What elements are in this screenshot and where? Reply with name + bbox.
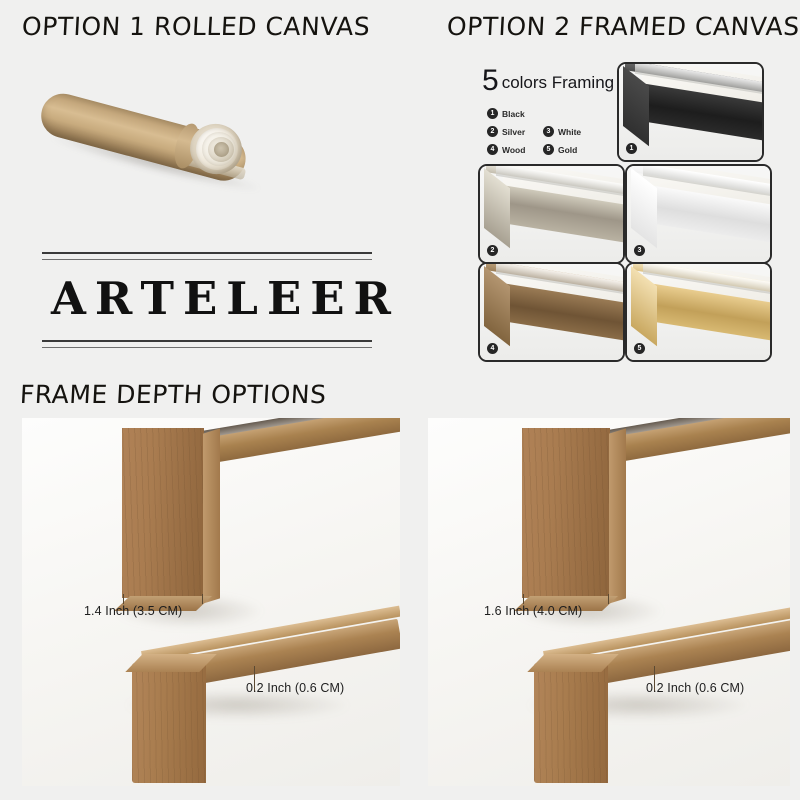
option1-title: OPTION 1 ROLLED CANVAS — [21, 12, 371, 41]
frame-corner-illustration — [627, 166, 770, 262]
frame-corner-illustration — [480, 166, 623, 262]
frame-sample-black[interactable]: 1 — [617, 62, 764, 162]
edge-depth-label-right: 0.2 Inch (0.6 CM) — [646, 681, 744, 695]
frame-depth-title: FRAME DEPTH OPTIONS — [19, 380, 327, 409]
lower-corner-block — [534, 663, 608, 783]
brand-lockup: ARTELEER — [42, 252, 372, 352]
card-badge-1: 1 — [626, 143, 637, 154]
frame-corner-illustration — [619, 64, 762, 160]
frame-sample-silver[interactable]: 2 — [478, 164, 625, 264]
legend-item-gold: 5 Gold — [543, 144, 603, 155]
badge-5: 5 — [543, 144, 554, 155]
legend-item-black: 1 Black — [487, 108, 543, 119]
measure-tick-right — [202, 594, 203, 604]
legend-label: Gold — [558, 145, 577, 155]
badge-1: 1 — [487, 108, 498, 119]
legend-label: White — [558, 127, 581, 137]
stile-face — [122, 428, 204, 598]
stile-edge — [609, 428, 626, 603]
badge-4: 4 — [487, 144, 498, 155]
frame-stile — [122, 428, 204, 598]
rolled-canvas-illustration — [30, 62, 295, 197]
frame-sample-white[interactable]: 3 — [625, 164, 772, 264]
framing-count: 5 — [482, 64, 499, 97]
frame-stile — [522, 428, 610, 598]
lower-corner-block — [132, 663, 206, 783]
measure-tick-right — [608, 594, 609, 604]
edge-depth-label-left: 0.2 Inch (0.6 CM) — [246, 681, 344, 695]
stile-face — [522, 428, 610, 598]
brand-rule-top-thick — [42, 252, 372, 254]
frame-corner-illustration — [480, 264, 623, 360]
measure-tick-left — [523, 594, 524, 604]
canvas-roll-core — [214, 142, 229, 157]
brand-rule-bottom-thin — [42, 347, 372, 348]
card-badge-5: 5 — [634, 343, 645, 354]
brand-rule-bottom-thick — [42, 340, 372, 342]
legend-item-wood: 4 Wood — [487, 144, 543, 155]
framing-color-legend: 1 Black 2 Silver 3 White 4 Wood 5 Gold — [487, 108, 617, 155]
legend-item-silver: 2 Silver — [487, 126, 543, 137]
frame-sample-gold[interactable]: 5 — [625, 262, 772, 362]
option2-title: OPTION 2 FRAMED CANVAS — [446, 12, 800, 41]
framing-headline-text: colors Framing — [502, 73, 614, 92]
card-badge-2: 2 — [487, 245, 498, 256]
framing-headline: 5colors Framing — [482, 64, 614, 98]
infographic-page: OPTION 1 ROLLED CANVAS ARTELEER OPTION 2… — [0, 0, 800, 800]
measure-tick-left — [123, 594, 124, 604]
frame-corner-illustration — [627, 264, 770, 360]
frame-depth-label-left: 1.4 Inch (3.5 CM) — [84, 604, 182, 618]
badge-3: 3 — [543, 126, 554, 137]
legend-label: Black — [502, 109, 525, 119]
badge-2: 2 — [487, 126, 498, 137]
brand-name: ARTELEER — [42, 274, 372, 324]
frame-sample-wood[interactable]: 4 — [478, 262, 625, 362]
frame-depth-label-right: 1.6 Inch (4.0 CM) — [484, 604, 582, 618]
frame-depth-photo-right: 1.6 Inch (4.0 CM) 0.2 Inch (0.6 CM) — [428, 418, 790, 786]
legend-label: Silver — [502, 127, 525, 137]
card-badge-4: 4 — [487, 343, 498, 354]
card-badge-3: 3 — [634, 245, 645, 256]
brand-rule-top-thin — [42, 259, 372, 260]
legend-item-white: 3 White — [543, 126, 603, 137]
stile-edge — [203, 428, 220, 603]
frame-depth-photo-left: 1.4 Inch (3.5 CM) 0.2 Inch (0.6 CM) — [22, 418, 400, 786]
legend-label: Wood — [502, 145, 525, 155]
